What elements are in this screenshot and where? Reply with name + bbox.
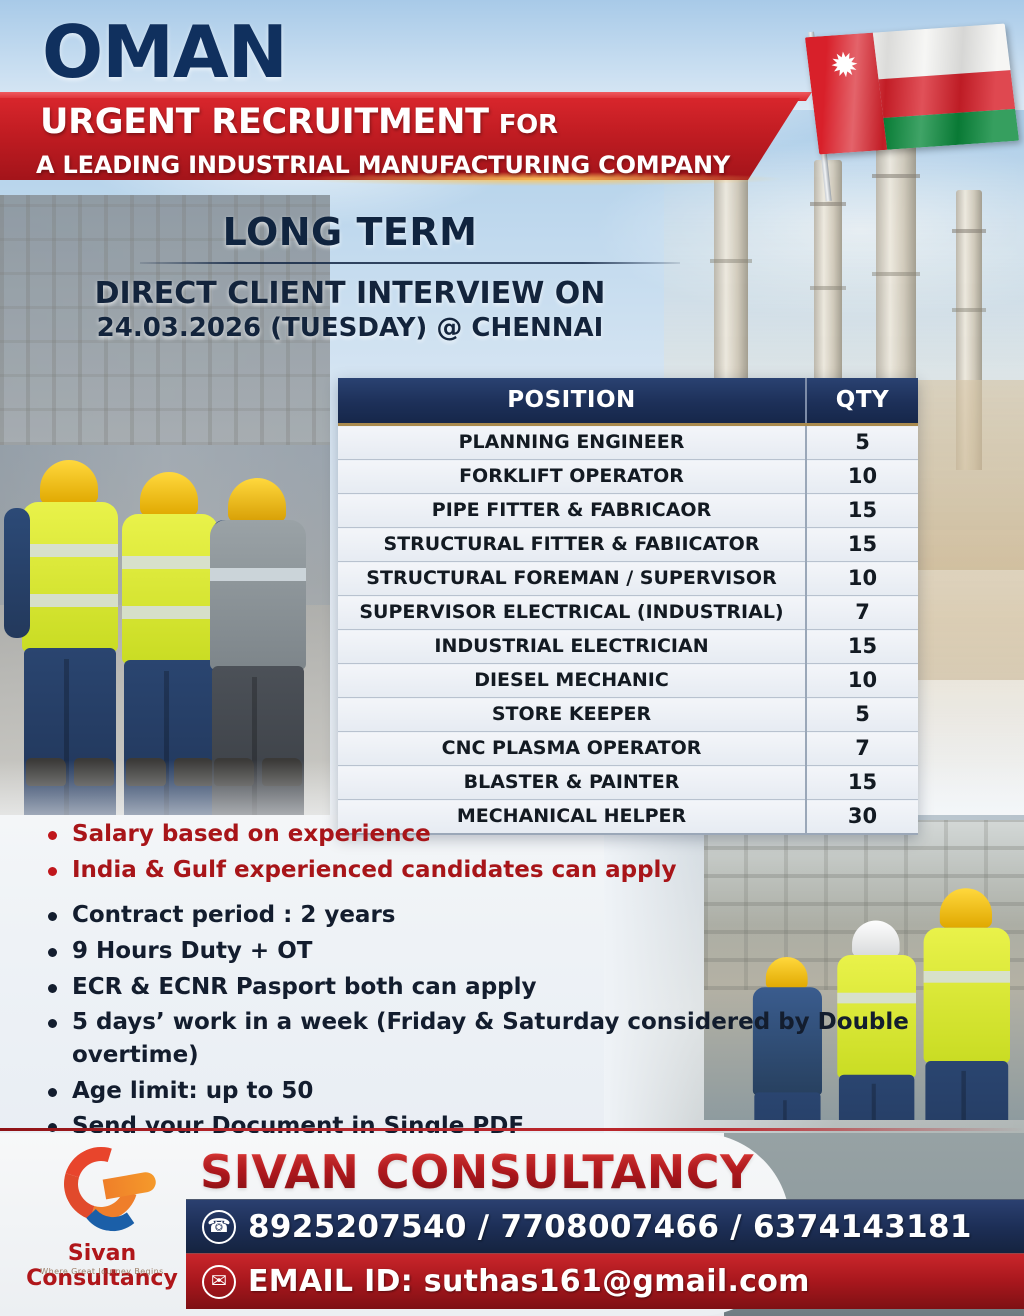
interview-line-2: 24.03.2026 (TUESDAY) @ CHENNAI	[0, 313, 700, 343]
table-row: STORE KEEPER5	[338, 698, 918, 732]
position-cell: DIESEL MECHANIC	[338, 664, 806, 698]
banner-headline-suffix: FOR	[499, 110, 558, 140]
long-term-title: LONG TERM	[0, 210, 700, 254]
qty-cell: 15	[806, 528, 918, 562]
term-item: Contract period : 2 years	[38, 899, 978, 932]
term-item: Salary based on experience	[38, 818, 978, 851]
table-row: DIESEL MECHANIC10	[338, 664, 918, 698]
qty-cell: 5	[806, 698, 918, 732]
banner-headline-main: URGENT RECRUITMENT	[40, 102, 489, 142]
table-row: STRUCTURAL FOREMAN / SUPERVISOR10	[338, 562, 918, 596]
qty-cell: 15	[806, 494, 918, 528]
table-row: STRUCTURAL FITTER & FABIICATOR15	[338, 528, 918, 562]
banner-subheadline: A LEADING INDUSTRIAL MANUFACTURING COMPA…	[36, 153, 730, 177]
term-item: 5 days’ work in a week (Friday & Saturda…	[38, 1006, 978, 1071]
table-row: BLASTER & PAINTER15	[338, 766, 918, 800]
qty-cell: 15	[806, 766, 918, 800]
position-cell: STRUCTURAL FOREMAN / SUPERVISOR	[338, 562, 806, 596]
qty-cell: 10	[806, 664, 918, 698]
flag-body: ✹	[805, 23, 1019, 154]
term-item: 9 Hours Duty + OT	[38, 935, 978, 968]
position-cell: FORKLIFT OPERATOR	[338, 460, 806, 494]
term-item: Age limit: up to 50	[38, 1075, 978, 1108]
table-row: PLANNING ENGINEER5	[338, 425, 918, 460]
qty-cell: 15	[806, 630, 918, 664]
email-contact-bar[interactable]: ✉ EMAIL ID: suthas161@gmail.com	[186, 1253, 1024, 1309]
qty-cell: 10	[806, 460, 918, 494]
flag-sheen	[805, 23, 1019, 154]
phone-numbers: 8925207540 / 7708007466 / 6374143181	[248, 1209, 972, 1245]
phone-icon: ☎	[202, 1210, 236, 1244]
positions-table: POSITION QTY PLANNING ENGINEER5FORKLIFT …	[338, 378, 918, 835]
logo-company-text: Sivan Consultancy	[14, 1241, 190, 1291]
term-item: ECR & ECNR Pasport both can apply	[38, 971, 978, 1004]
table-row: INDUSTRIAL ELECTRICIAN15	[338, 630, 918, 664]
position-cell: SUPERVISOR ELECTRICAL (INDUSTRIAL)	[338, 596, 806, 630]
oman-flag: ✹	[792, 8, 1020, 198]
table-row: FORKLIFT OPERATOR10	[338, 460, 918, 494]
table-header-row: POSITION QTY	[338, 378, 918, 425]
logo-swoosh-icon	[58, 1145, 154, 1237]
footer: Sivan Consultancy Where Great Journey Be…	[0, 1133, 1024, 1316]
table-row: PIPE FITTER & FABRICAOR15	[338, 494, 918, 528]
company-name: SIVAN CONSULTANCY	[200, 1145, 754, 1199]
position-cell: BLASTER & PAINTER	[338, 766, 806, 800]
page-title: OMAN	[42, 16, 287, 88]
column-header-qty: QTY	[806, 378, 918, 425]
company-logo: Sivan Consultancy Where Great Journey Be…	[14, 1141, 190, 1309]
position-cell: INDUSTRIAL ELECTRICIAN	[338, 630, 806, 664]
divider	[140, 262, 680, 264]
envelope-icon: ✉	[202, 1265, 236, 1299]
qty-cell: 7	[806, 596, 918, 630]
position-cell: PLANNING ENGINEER	[338, 425, 806, 460]
qty-cell: 10	[806, 562, 918, 596]
position-cell: STRUCTURAL FITTER & FABIICATOR	[338, 528, 806, 562]
footer-divider	[0, 1128, 1024, 1131]
banner-headline: URGENT RECRUITMENTFOR	[40, 105, 558, 140]
table-row: CNC PLASMA OPERATOR7	[338, 732, 918, 766]
interview-line-1: DIRECT CLIENT INTERVIEW ON	[0, 276, 700, 311]
recruitment-poster: OMAN URGENT RECRUITMENTFOR A LEADING IND…	[0, 0, 1024, 1316]
email-address: EMAIL ID: suthas161@gmail.com	[248, 1264, 810, 1299]
phone-contact-bar[interactable]: ☎ 8925207540 / 7708007466 / 6374143181	[186, 1199, 1024, 1253]
term-item: India & Gulf experienced candidates can …	[38, 854, 978, 887]
qty-cell: 7	[806, 732, 918, 766]
table-row: SUPERVISOR ELECTRICAL (INDUSTRIAL)7	[338, 596, 918, 630]
logo-tagline: Where Great Journey Begins	[14, 1267, 190, 1276]
position-cell: PIPE FITTER & FABRICAOR	[338, 494, 806, 528]
column-header-position: POSITION	[338, 378, 806, 425]
qty-cell: 5	[806, 425, 918, 460]
position-cell: CNC PLASMA OPERATOR	[338, 732, 806, 766]
position-cell: STORE KEEPER	[338, 698, 806, 732]
